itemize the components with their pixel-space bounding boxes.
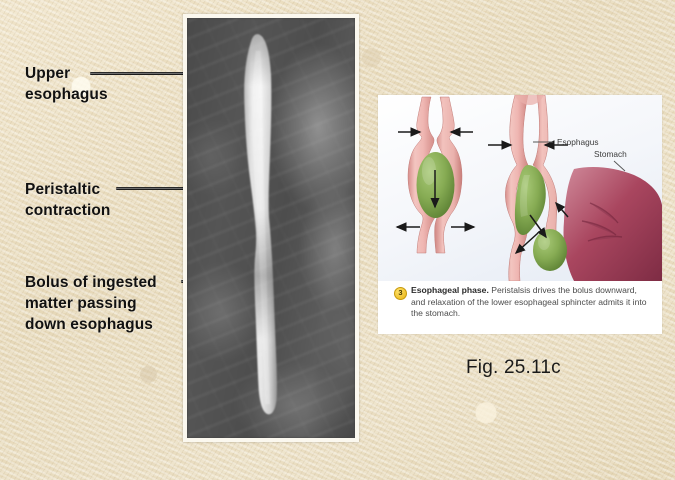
caption-title: Esophageal phase. xyxy=(411,285,489,295)
diagram-label-stomach: Stomach xyxy=(594,149,627,159)
xray-image xyxy=(187,18,355,438)
step-number-badge: 3 xyxy=(394,287,407,300)
peristalsis-diagram-panel: Esophagus Stomach 3 Esophageal phase. Pe… xyxy=(378,95,662,334)
annotation-label-peristaltic-contraction: Peristaltic contraction xyxy=(25,179,111,221)
diagram-label-esophagus: Esophagus xyxy=(557,137,599,147)
diagram-caption: 3 Esophageal phase. Peristalsis drives t… xyxy=(378,281,662,334)
diagram-illustration: Esophagus Stomach xyxy=(378,95,662,281)
slide-canvas: Upper esophagus Peristaltic contraction … xyxy=(0,0,675,480)
caption-text: Esophageal phase. Peristalsis drives the… xyxy=(411,285,650,320)
annotation-label-bolus-passing: Bolus of ingested matter passing down es… xyxy=(25,272,157,335)
figure-number: Fig. 25.11c xyxy=(466,357,561,379)
barium-contrast-column xyxy=(231,31,288,426)
stomach-shape xyxy=(563,167,662,281)
xray-photo-frame xyxy=(183,14,359,442)
annotation-label-upper-esophagus: Upper esophagus xyxy=(25,63,108,105)
bolus-right-lower xyxy=(533,229,567,271)
